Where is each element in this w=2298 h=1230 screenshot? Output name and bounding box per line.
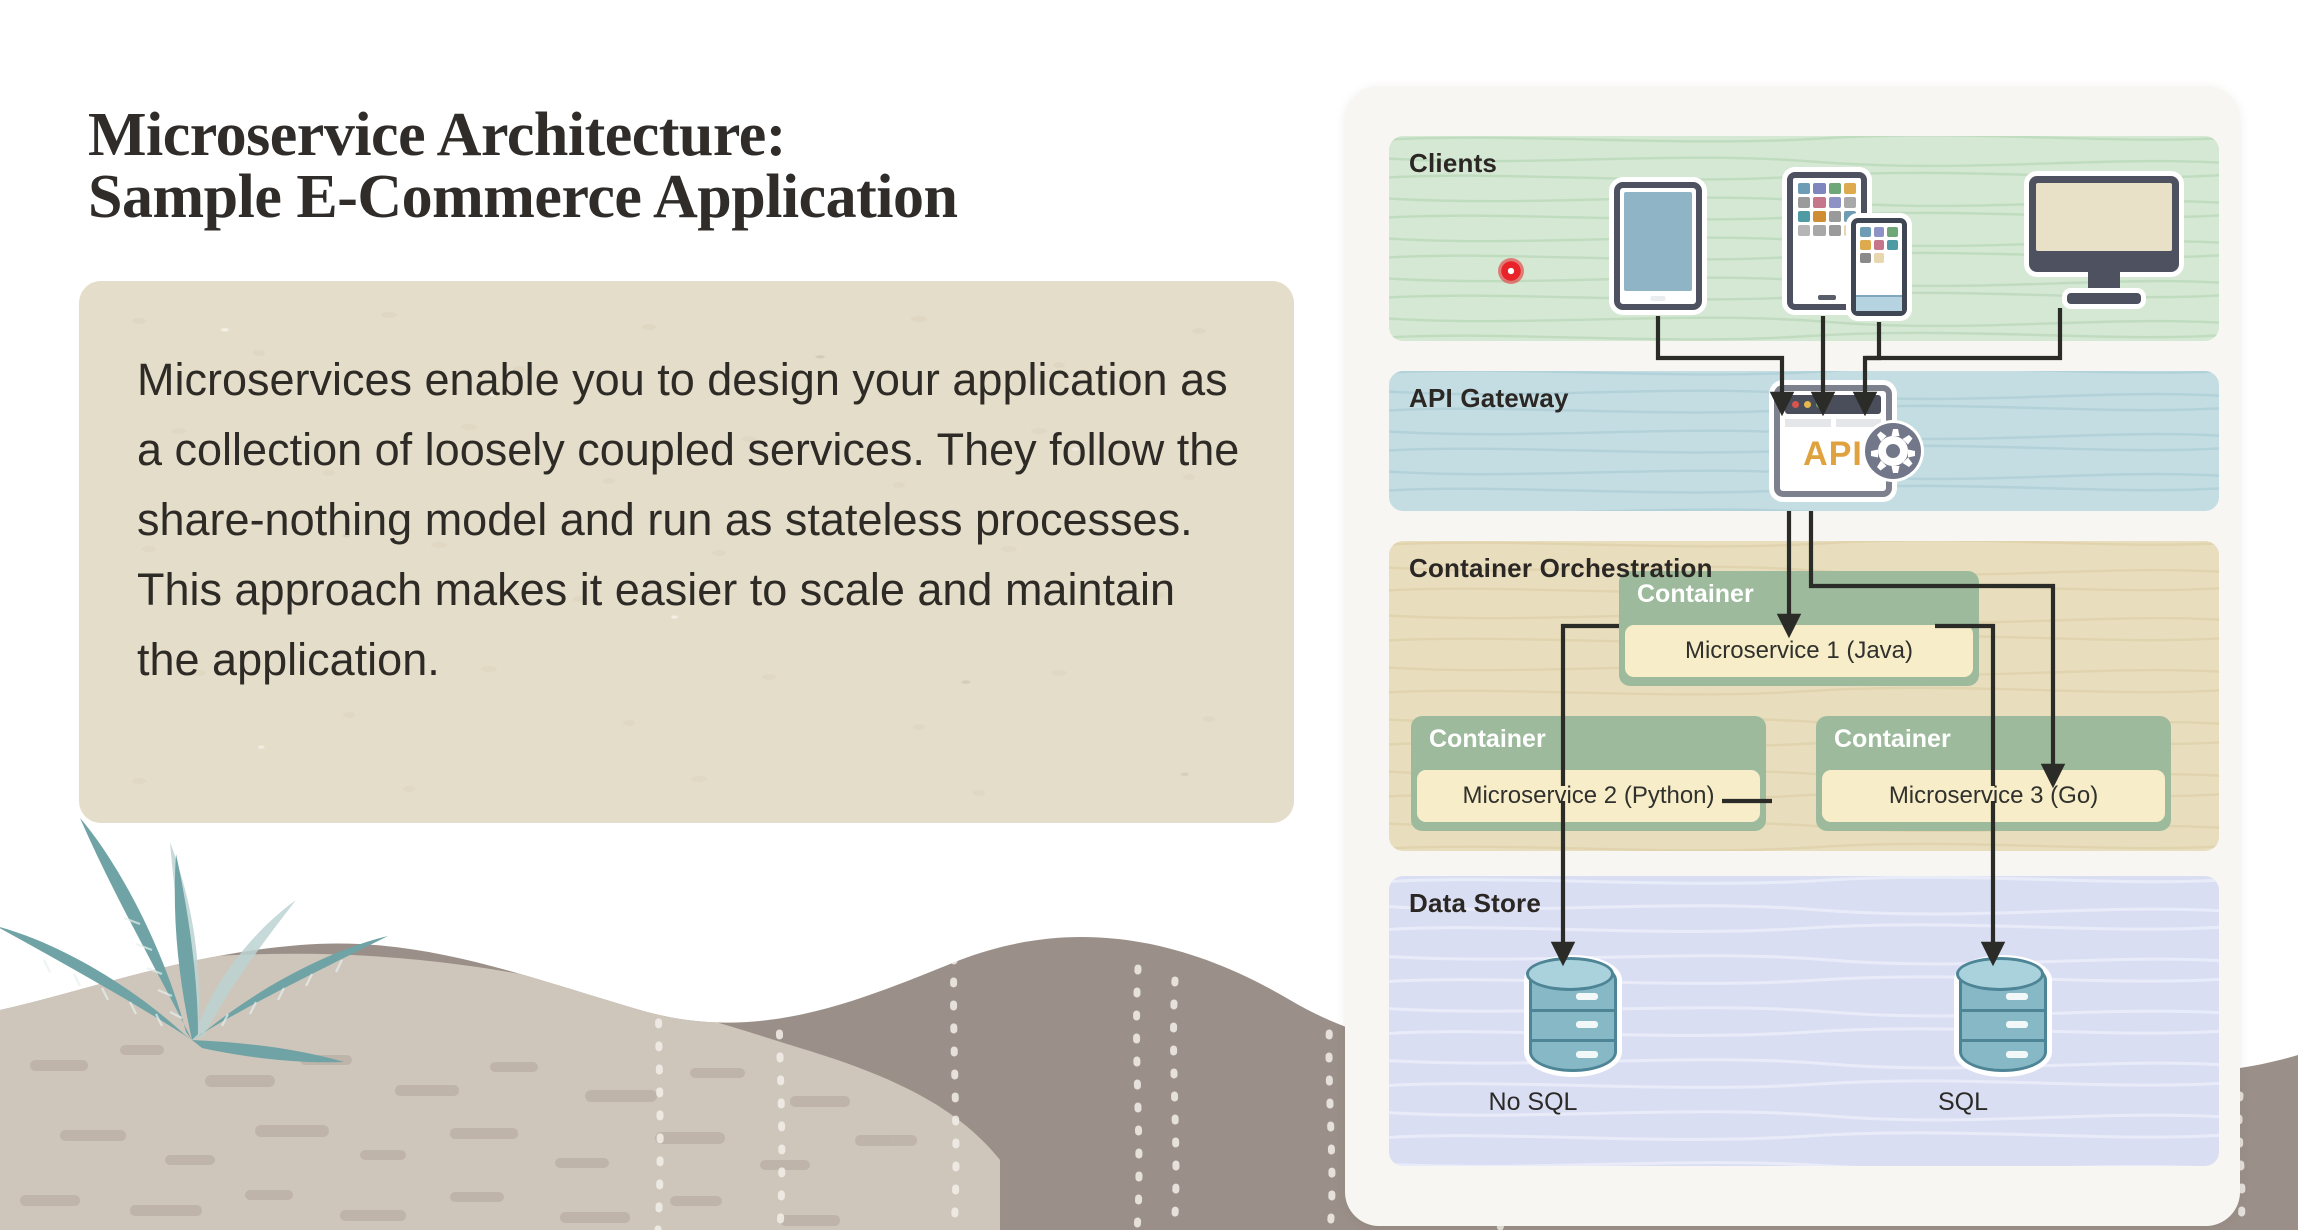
monitor-base bbox=[2067, 293, 2141, 304]
database-cylinder-icon-nosql bbox=[1529, 960, 1617, 1072]
monitor-device-icon bbox=[2029, 176, 2179, 306]
sql-label: SQL bbox=[1863, 1088, 2063, 1117]
container-label-3: Container bbox=[1834, 725, 1951, 754]
container-box-1: Container Microservice 1 (Java) bbox=[1619, 571, 1979, 686]
tablet-home-indicator bbox=[1651, 296, 1666, 301]
monitor-screen bbox=[2036, 183, 2172, 251]
phone-app-grid bbox=[1860, 227, 1898, 263]
summary-paragraph-2: This approach makes it easier to scale a… bbox=[137, 555, 1247, 695]
phone-bottom-bar bbox=[1856, 295, 1902, 311]
summary-text-card: Microservices enable you to design your … bbox=[79, 281, 1294, 823]
sql-cylinder-top bbox=[1956, 957, 2044, 991]
page-title-line-2: Sample E-Commerce Application bbox=[88, 166, 1268, 228]
page-title-line-1: Microservice Architecture: bbox=[88, 104, 1268, 166]
monitor-body bbox=[2029, 176, 2179, 272]
container-box-3: Container Microservice 3 (Go) bbox=[1816, 716, 2171, 831]
page-title: Microservice Architecture: Sample E-Comm… bbox=[88, 104, 1268, 228]
gear-icon bbox=[1861, 419, 1925, 483]
slide-left-column: Microservice Architecture: Sample E-Comm… bbox=[0, 0, 1330, 1230]
container-orchestration-band: Container Orchestration Container Micros… bbox=[1389, 541, 2219, 851]
container-orchestration-band-label: Container Orchestration bbox=[1409, 553, 1713, 584]
api-gateway-band-label: API Gateway bbox=[1409, 383, 1569, 414]
tablet-apps-home-indicator bbox=[1818, 295, 1836, 300]
microservice-chip-1: Microservice 1 (Java) bbox=[1625, 625, 1973, 677]
data-store-band-label: Data Store bbox=[1409, 888, 1541, 919]
container-box-2: Container Microservice 2 (Python) bbox=[1411, 716, 1766, 831]
clients-band: Clients bbox=[1389, 136, 2219, 341]
clients-band-label: Clients bbox=[1409, 148, 1497, 179]
architecture-diagram-card: Clients bbox=[1345, 86, 2240, 1226]
summary-paragraph-1: Microservices enable you to design your … bbox=[137, 345, 1247, 555]
container-label-1: Container bbox=[1637, 580, 1754, 609]
band-texture bbox=[1389, 876, 2219, 1166]
api-gateway-band: API Gateway API bbox=[1389, 371, 2219, 511]
microservice-chip-3: Microservice 3 (Go) bbox=[1822, 770, 2165, 822]
nosql-label: No SQL bbox=[1433, 1088, 1633, 1117]
phone-device-icon bbox=[1851, 218, 1907, 316]
tablet-device-icon bbox=[1614, 182, 1702, 310]
data-store-band: Data Store No SQL SQL bbox=[1389, 876, 2219, 1166]
app-grid bbox=[1798, 183, 1856, 236]
monitor-neck bbox=[2088, 272, 2120, 295]
container-label-2: Container bbox=[1429, 725, 1546, 754]
database-cylinder-icon-sql bbox=[1959, 960, 2047, 1072]
summary-text: Microservices enable you to design your … bbox=[137, 345, 1247, 695]
tablet-screen bbox=[1624, 192, 1692, 291]
nosql-cylinder-top bbox=[1526, 957, 1614, 991]
microservice-chip-2: Microservice 2 (Python) bbox=[1417, 770, 1760, 822]
browser-titlebar bbox=[1785, 395, 1881, 414]
